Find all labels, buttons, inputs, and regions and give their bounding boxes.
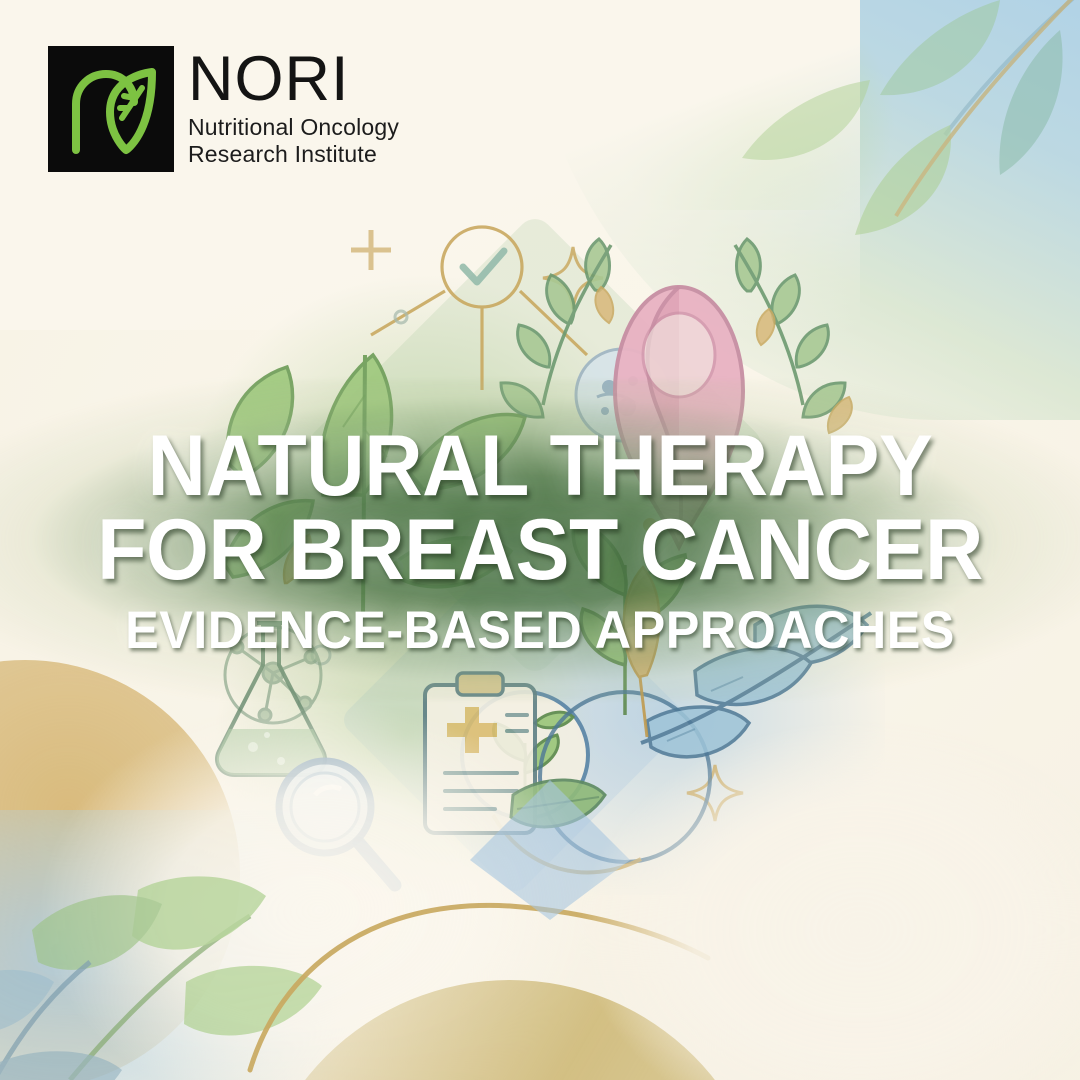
brand-tagline: Nutritional Oncology Research Institute <box>188 114 399 168</box>
nori-leaf-monogram-icon <box>48 46 174 172</box>
brand-name: NORI <box>188 50 399 109</box>
poster-canvas: NORI Nutritional Oncology Research Insti… <box>0 0 1080 1080</box>
headline-line-1: NATURAL THERAPY <box>32 424 1047 508</box>
top-right-green-blob <box>620 0 950 210</box>
subheadline: EVIDENCE-BASED APPROACHES <box>27 604 1053 657</box>
brand-tagline-line2: Research Institute <box>188 141 399 168</box>
headline-block: NATURAL THERAPY FOR BREAST CANCER <box>0 424 1080 593</box>
brand-tagline-line1: Nutritional Oncology <box>188 114 399 141</box>
brand-logo-text: NORI Nutritional Oncology Research Insti… <box>188 50 399 168</box>
headline-line-2: FOR BREAST CANCER <box>32 508 1047 592</box>
brand-logo[interactable]: NORI Nutritional Oncology Research Insti… <box>48 46 399 172</box>
bottom-mid-gold-blob <box>250 980 770 1080</box>
